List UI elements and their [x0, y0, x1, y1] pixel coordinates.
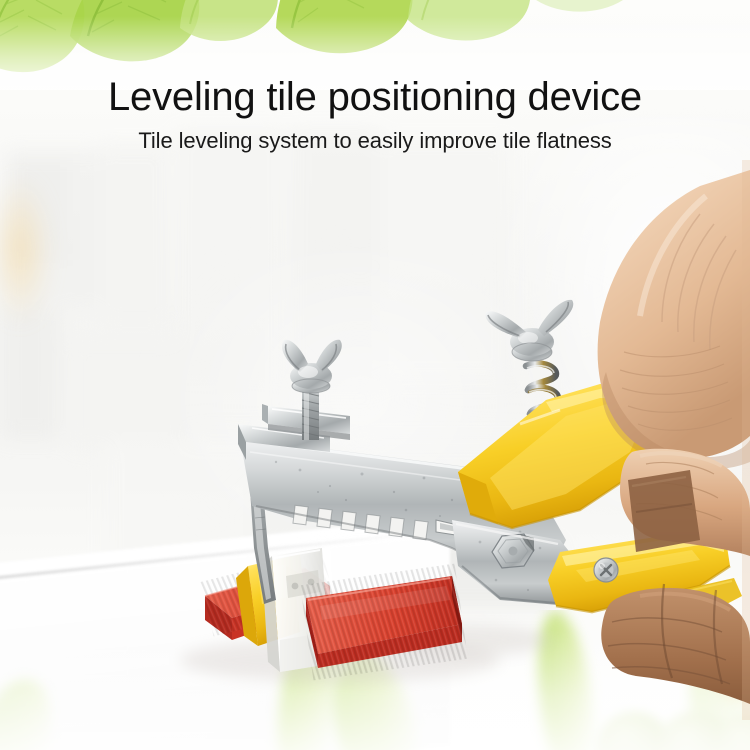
handle-highlight	[686, 410, 706, 514]
product-image: Leveling tile positioning device Tile le…	[0, 0, 750, 750]
product-illustration	[0, 0, 750, 750]
wing-nut-right	[485, 300, 573, 361]
yellow-handle-upper	[458, 384, 672, 528]
